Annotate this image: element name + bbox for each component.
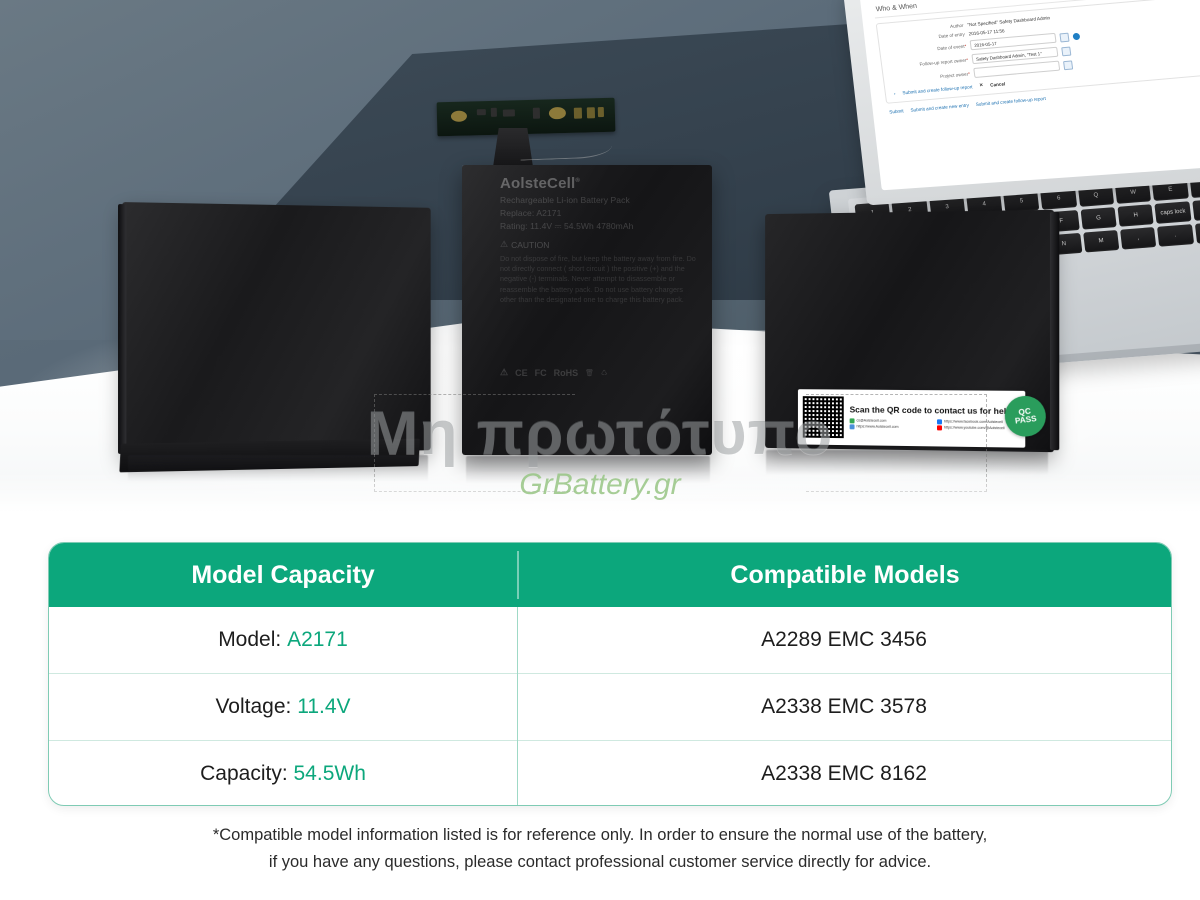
spec-value: 11.4V <box>297 695 350 719</box>
action-submit-new[interactable]: Submit and create new entry <box>910 103 969 113</box>
spec-table-body: Model: A2171A2289 EMC 3456Voltage: 11.4V… <box>49 607 1171 806</box>
spec-cell-capacity: Model: A2171 <box>49 607 517 673</box>
header-model-capacity: Model Capacity <box>49 543 517 607</box>
calendar-icon[interactable] <box>1063 60 1073 70</box>
keyboard-key[interactable]: caps lock <box>1155 201 1191 224</box>
action-submit-follow-up[interactable]: Submit and create follow-up report <box>902 84 973 95</box>
battery-caution-body: Do not dispose of fire, but keep the bat… <box>500 254 700 305</box>
chevron-icon: › <box>894 90 896 95</box>
field-label: Project owner* <box>892 71 970 83</box>
keyboard-key[interactable]: , <box>1120 227 1156 250</box>
calendar-icon[interactable] <box>1061 46 1071 56</box>
ce-mark-icon: CE <box>515 368 528 378</box>
spec-cell-compatible: A2289 EMC 3456 <box>517 607 1171 673</box>
action-submit-followup[interactable]: Submit and create follow-up report <box>975 96 1046 107</box>
table-row: Model: A2171A2289 EMC 3456 <box>49 607 1171 673</box>
product-image-page: 123456QWERTYASDFGHcaps lockZXCVBshiftNM,… <box>0 0 1200 900</box>
field-value[interactable]: 2016-05-17 11:56 <box>968 28 1004 36</box>
spec-label: Capacity: <box>200 762 288 786</box>
watermark-site: GrBattery.gr <box>0 468 1200 502</box>
spec-value: A2171 <box>287 628 348 652</box>
keyboard-key[interactable]: M <box>1083 230 1119 253</box>
help-icon[interactable] <box>1072 32 1080 40</box>
rohs-mark-icon: RoHS <box>554 368 579 378</box>
battery-rating-line: Rating: 11.4V ⎓ 54.5Wh 4780mAh <box>500 221 700 232</box>
table-row: Capacity: 54.5WhA2338 EMC 8162 <box>49 740 1171 806</box>
field-value[interactable] <box>973 61 1060 78</box>
spec-value: 54.5Wh <box>294 762 366 786</box>
keyboard-key[interactable]: G <box>1080 207 1116 230</box>
battery-caution-title: ⚠ CAUTION <box>500 239 700 250</box>
spec-cell-capacity: Voltage: 11.4V <box>49 674 517 740</box>
spec-cell-compatible: A2338 EMC 8162 <box>517 741 1171 806</box>
required-marker: * <box>966 57 968 62</box>
table-row: Voltage: 11.4VA2338 EMC 3578 <box>49 673 1171 740</box>
header-compatible-models: Compatible Models <box>519 543 1171 607</box>
spec-table-header: Model Capacity Compatible Models <box>49 543 1171 607</box>
laptop-lid: Who & When Author"Not Specified" Safety … <box>843 0 1200 205</box>
action-submit[interactable]: Submit <box>889 108 904 114</box>
keyboard-key[interactable]: Z <box>1192 198 1200 221</box>
watermark-main: Μη πρωτότυπο <box>0 398 1200 469</box>
spec-table: Model Capacity Compatible Models Model: … <box>48 542 1172 806</box>
cancel-icon: ✕ <box>979 82 984 88</box>
recycle-icon: ♺ <box>601 369 607 377</box>
warning-triangle-icon: ⚠ <box>500 239 508 250</box>
field-label: Follow-up report owner* <box>890 57 968 69</box>
spec-cell-compatible: A2338 EMC 3578 <box>517 674 1171 740</box>
battery-label: AolsteCell® Rechargeable Li-ion Battery … <box>500 175 700 305</box>
fcc-mark-icon: FC <box>535 368 547 378</box>
spec-column-divider <box>517 607 518 806</box>
footer-note: *Compatible model information listed is … <box>0 822 1200 876</box>
calendar-icon[interactable] <box>1059 32 1069 42</box>
spec-label: Model: <box>218 628 281 652</box>
footer-note-line-2: if you have any questions, please contac… <box>0 849 1200 876</box>
weee-bin-icon: 🗑 <box>585 369 594 377</box>
footer-note-line-1: *Compatible model information listed is … <box>0 822 1200 849</box>
keyboard-key[interactable]: / <box>1195 221 1200 244</box>
battery-brand: AolsteCell® <box>500 175 700 192</box>
keyboard-key[interactable]: H <box>1118 204 1154 227</box>
action-cancel[interactable]: Cancel <box>990 81 1006 87</box>
field-label: Date of event* <box>888 43 966 55</box>
battery-certification-marks: ⚠ CE FC RoHS 🗑 ♺ <box>500 367 607 378</box>
spec-cell-capacity: Capacity: 54.5Wh <box>49 741 517 806</box>
spec-label: Voltage: <box>215 695 291 719</box>
battery-replace-line: Replace: A2171 <box>500 208 700 218</box>
required-marker: * <box>968 71 970 76</box>
screen-form: Who & When Author"Not Specified" Safety … <box>873 0 1200 188</box>
keyboard-key[interactable]: . <box>1157 224 1193 247</box>
required-marker: * <box>964 43 966 48</box>
laptop-screen: Who & When Author"Not Specified" Safety … <box>860 0 1200 190</box>
warning-icon: ⚠ <box>500 367 508 378</box>
battery-type-line: Rechargeable Li-ion Battery Pack <box>500 195 700 205</box>
